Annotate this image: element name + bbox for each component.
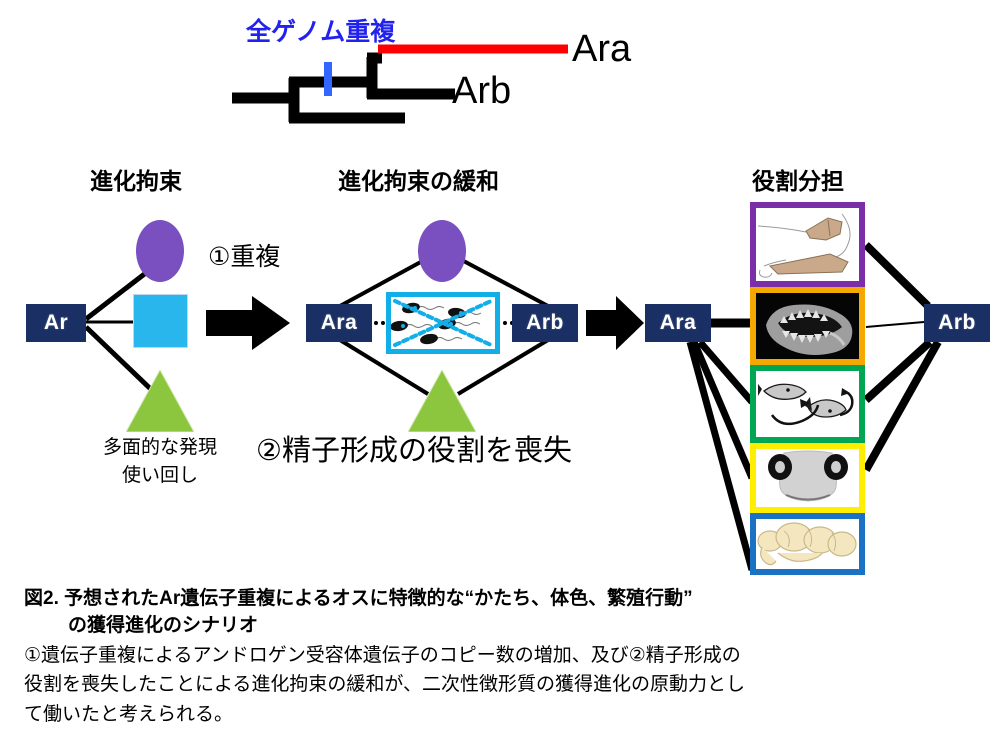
caption-title-line2: の獲得進化のシナリオ bbox=[68, 615, 258, 636]
pleiotropy-caption-line1: 多面的な発現 bbox=[70, 434, 250, 462]
caption-body-line2: 役割を喪失したことによる進化拘束の緩和が、二次性徴形質の獲得進化の原動力とし bbox=[24, 671, 984, 699]
caption-body-line1: ①遺伝子重複によるアンドロゲン受容体遺伝子のコピー数の増加、及び②精子形成の bbox=[24, 642, 984, 670]
gene-node-ara-middle[interactable]: Ara bbox=[306, 304, 372, 342]
figure-caption: 図2. 予想されたAr遺伝子重複によるオスに特徴的な“かたち、体色、繁殖行動” … bbox=[24, 586, 984, 729]
heading-role-division: 役割分担 bbox=[752, 170, 844, 193]
pleiotropy-caption: 多面的な発現 使い回し bbox=[70, 434, 250, 489]
pleiotropy-caption-line2: 使い回し bbox=[70, 462, 250, 490]
step-2-label: ②精子形成の役割を喪失 bbox=[256, 437, 572, 466]
heading-constraint-relaxation: 進化拘束の緩和 bbox=[338, 170, 499, 193]
gene-node-ar[interactable]: Ar bbox=[26, 304, 86, 342]
trait-image-brain bbox=[750, 513, 865, 575]
trait-image-fins bbox=[750, 202, 865, 287]
trait-image-jaw bbox=[750, 287, 865, 365]
trait-shape-triangle-left bbox=[126, 370, 194, 432]
trait-shape-triangle-middle bbox=[408, 370, 476, 432]
gene-node-arb-right[interactable]: Arb bbox=[924, 304, 990, 342]
figure-root: 全ゲノム重複 Ara Arb 進化拘束 進化拘束の緩和 役割分担 bbox=[0, 0, 1000, 739]
caption-title-line1: 図2. 予想されたAr遺伝子重複によるオスに特徴的な“かたち、体色、繁殖行動” bbox=[24, 586, 984, 613]
step-1-label: ①重複 bbox=[208, 245, 280, 270]
step-1-arrow-icon bbox=[206, 296, 292, 350]
trait-image-courtship bbox=[750, 365, 865, 443]
trait-shape-ellipse-left bbox=[136, 220, 184, 282]
caption-title-line2-wrapper: の獲得進化のシナリオ bbox=[24, 613, 984, 640]
step-2-arrow-icon bbox=[586, 296, 646, 350]
phylogenetic-tree: 全ゲノム重複 Ara Arb bbox=[0, 0, 1000, 150]
trait-shape-square-left bbox=[133, 294, 188, 348]
tree-tip-label-arb: Arb bbox=[452, 72, 511, 110]
tree-tip-label-ara: Ara bbox=[572, 30, 631, 68]
heading-evolutionary-constraint: 進化拘束 bbox=[90, 170, 182, 193]
trait-image-head bbox=[750, 443, 865, 513]
caption-body-line3: て働いたと考えられる。 bbox=[24, 701, 984, 729]
spermatogenesis-panel bbox=[386, 292, 500, 354]
gene-node-ara-right[interactable]: Ara bbox=[645, 304, 711, 342]
trait-shape-ellipse-middle bbox=[418, 220, 466, 282]
gene-node-arb-middle[interactable]: Arb bbox=[512, 304, 578, 342]
